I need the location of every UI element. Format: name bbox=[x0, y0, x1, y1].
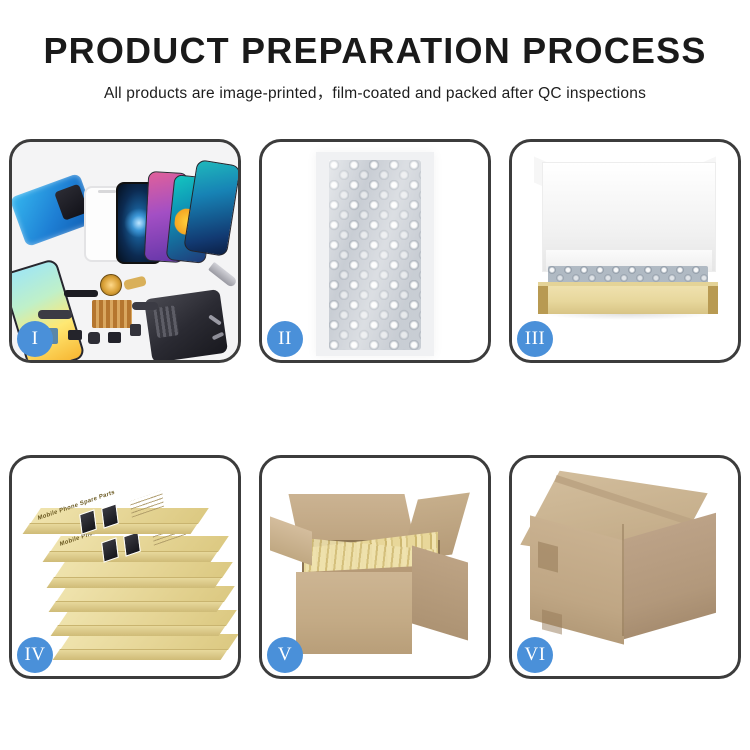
step-badge-2: II bbox=[267, 321, 303, 357]
spare-part-flex-cable-1 bbox=[38, 310, 72, 319]
sealed-carton-corner-edge bbox=[622, 524, 624, 636]
step-badge-5: V bbox=[267, 637, 303, 673]
step-panel-5: V bbox=[259, 455, 491, 679]
spare-part-chip-4 bbox=[130, 324, 141, 336]
step-badge-4: IV bbox=[17, 637, 53, 673]
box-side-face bbox=[49, 601, 224, 612]
spare-part-chip-2 bbox=[88, 332, 100, 344]
phone-back-cover bbox=[144, 289, 228, 360]
box-top-face bbox=[56, 586, 235, 602]
steps-grid: I II bbox=[9, 139, 741, 679]
box-top-face bbox=[54, 562, 233, 578]
step-panel-6: VI bbox=[509, 455, 741, 679]
step-badge-3: III bbox=[517, 321, 553, 357]
step-panel-1: I bbox=[9, 139, 241, 363]
box-stack: Mobile Phone Spare Parts Mobile Phone Sp… bbox=[20, 484, 234, 670]
stacked-box-4 bbox=[56, 586, 224, 612]
stacked-box-6 bbox=[60, 634, 228, 660]
box-side-face bbox=[47, 577, 222, 588]
spare-part-flex-cable-2 bbox=[132, 302, 158, 310]
header: PRODUCT PREPARATION PROCESS All products… bbox=[0, 0, 750, 103]
box-tray-front bbox=[538, 286, 718, 314]
copper-coil-part bbox=[100, 274, 122, 296]
spare-part-connector-grid bbox=[92, 300, 132, 328]
step-panel-3: III bbox=[509, 139, 741, 363]
box-tray-cap-right bbox=[708, 286, 718, 314]
step-badge-6: VI bbox=[517, 637, 553, 673]
carton-front-face bbox=[296, 572, 412, 654]
box-tray-cap-left bbox=[538, 286, 548, 314]
carton-right-face bbox=[412, 545, 468, 640]
box-shadow bbox=[542, 314, 714, 320]
box-side-face bbox=[51, 625, 226, 636]
spare-part-bar bbox=[64, 290, 98, 297]
step-panel-4: Mobile Phone Spare Parts Mobile Phone Sp… bbox=[9, 455, 241, 679]
page-title: PRODUCT PREPARATION PROCESS bbox=[0, 30, 750, 71]
page-subtitle: All products are image-printed，film-coat… bbox=[0, 81, 750, 103]
bubble-wrap-sheen bbox=[329, 160, 421, 350]
stacked-box-5 bbox=[58, 610, 226, 636]
box-side-face bbox=[53, 649, 228, 660]
sealed-carton-tape-upper bbox=[538, 541, 558, 572]
step-panel-2: II bbox=[259, 139, 491, 363]
spare-part-chip-1 bbox=[68, 330, 82, 340]
step-badge-1: I bbox=[17, 321, 53, 357]
box-top-face bbox=[60, 634, 238, 650]
stacked-box-3 bbox=[54, 562, 222, 588]
box-top-face bbox=[58, 610, 237, 626]
product-preparation-infographic: PRODUCT PREPARATION PROCESS All products… bbox=[0, 0, 750, 750]
spare-part-chip-3 bbox=[108, 332, 121, 343]
